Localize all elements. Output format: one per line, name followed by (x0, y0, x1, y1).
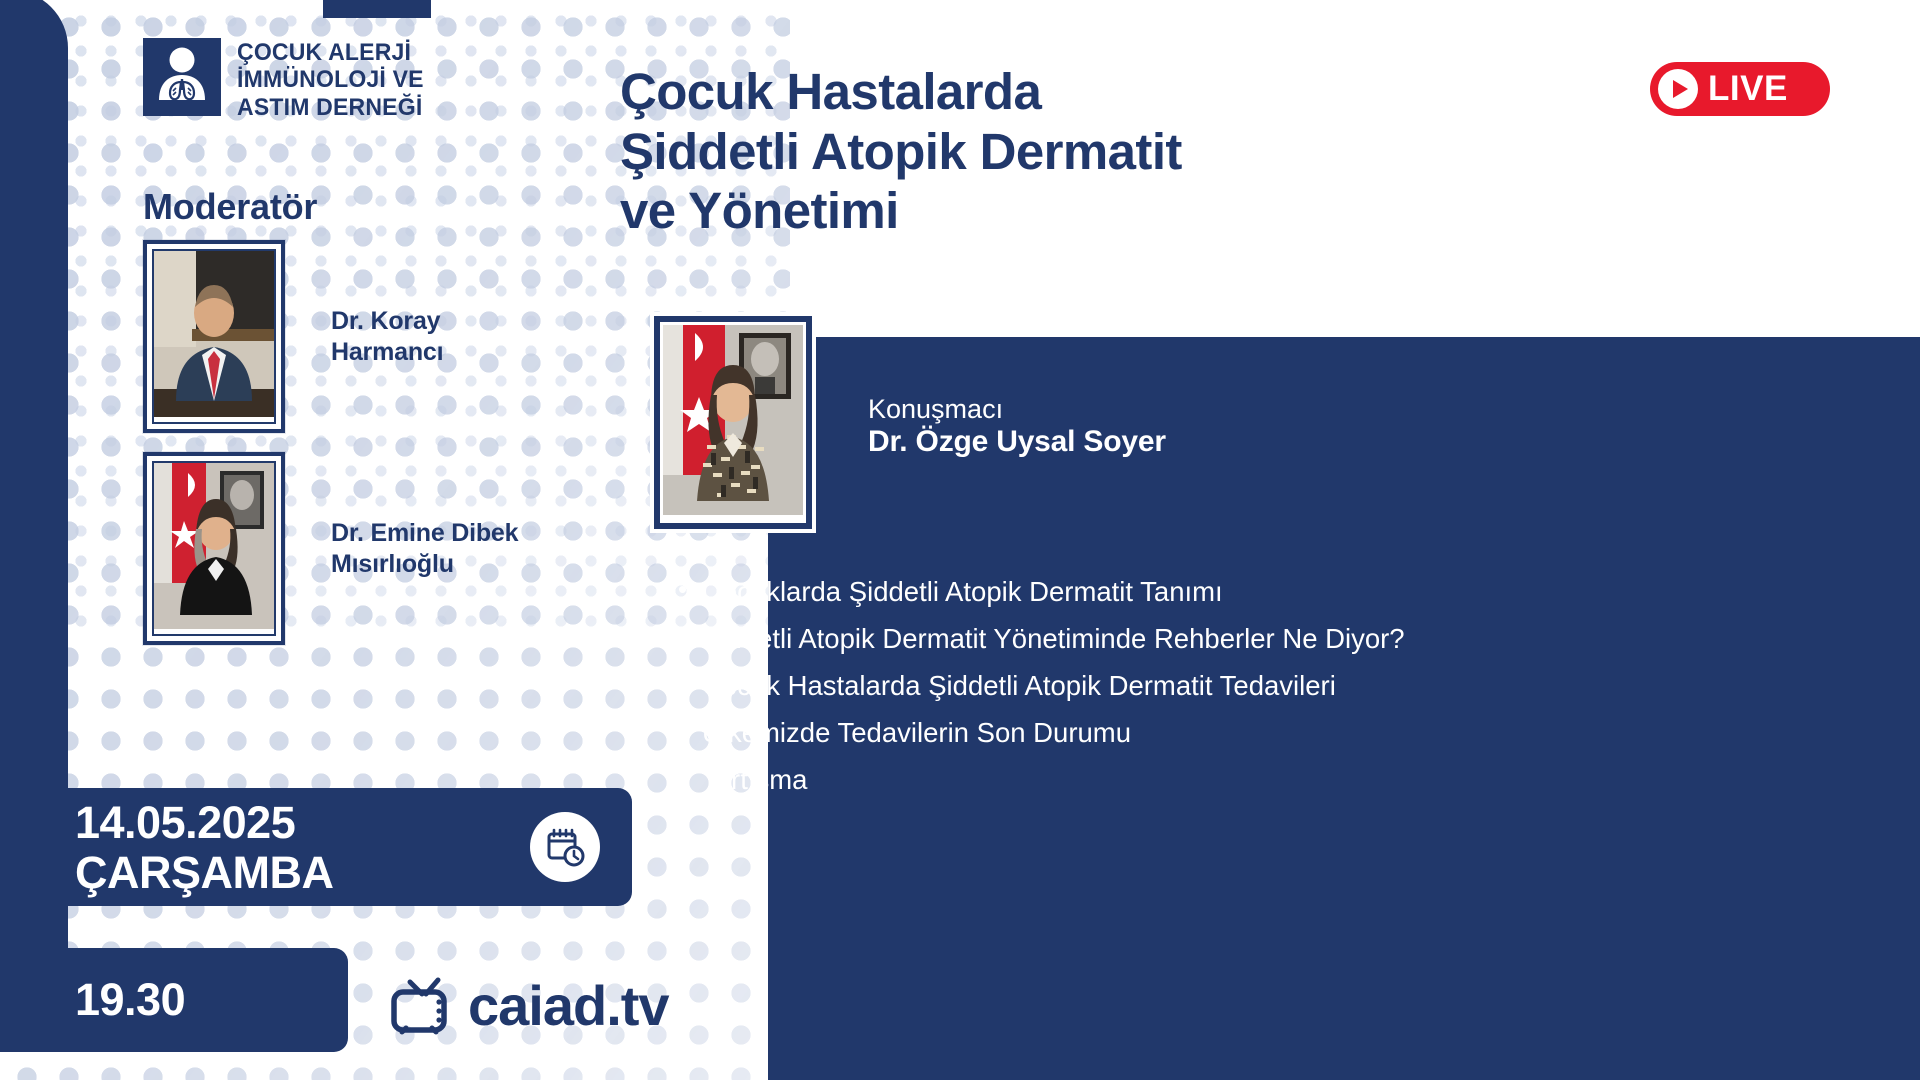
event-date-text: 14.05.2025 ÇARŞAMBA (75, 800, 334, 895)
event-time: 19.30 (75, 974, 185, 1026)
channel-link[interactable]: caiad.tv (386, 966, 669, 1045)
moderator-1-name-line-1: Dr. Koray (331, 307, 440, 335)
portrait-emine-dibek-misirlioglu (152, 461, 276, 636)
logo-line-2: İMMÜNOLOJİ VE (237, 66, 424, 93)
channel-url: caiad.tv (468, 973, 669, 1038)
event-time-badge: 19.30 (0, 948, 348, 1052)
top-accent-notch (323, 0, 431, 18)
list-item: Ülkemizde Tedavilerin Son Durumu (672, 713, 1552, 753)
page-title: Çocuk Hastalarda Şiddetli Atopik Dermati… (620, 62, 1182, 241)
logo-line-3: ASTIM DERNEĞİ (237, 94, 424, 121)
event-date: 14.05.2025 (75, 797, 295, 848)
list-item: Tartışma (672, 760, 1552, 800)
live-badge-label: LIVE (1708, 69, 1788, 109)
portrait-koray-harmanci (152, 249, 276, 424)
moderator-1-name-line-2: Harmancı (331, 338, 443, 366)
list-item: Çocuklarda Şiddetli Atopik Dermatit Tanı… (672, 572, 1552, 612)
live-badge[interactable]: LIVE (1650, 62, 1830, 116)
event-day: ÇARŞAMBA (75, 850, 334, 895)
calendar-clock-icon (530, 812, 600, 882)
event-date-badge: 14.05.2025 ÇARŞAMBA (0, 788, 632, 906)
moderator-2-photo-frame (143, 452, 285, 645)
title-line-2: Şiddetli Atopik Dermatit (620, 122, 1182, 182)
webinar-poster: ÇOCUK ALERJİ İMMÜNOLOJİ VE ASTIM DERNEĞİ… (0, 0, 1920, 1080)
title-line-3: ve Yönetimi (620, 181, 1182, 241)
moderator-2-name-line-2: Mısırlıoğlu (331, 550, 454, 578)
list-item: Şiddetli Atopik Dermatit Yönetiminde Reh… (672, 619, 1552, 659)
portrait-ozge-uysal-soyer (663, 502, 803, 519)
moderator-1-name: Dr. Koray Harmancı (331, 306, 443, 368)
association-logo-text: ÇOCUK ALERJİ İMMÜNOLOJİ VE ASTIM DERNEĞİ (237, 38, 424, 121)
speaker-photo-frame (650, 312, 816, 533)
moderator-heading: Moderatör (143, 186, 317, 228)
tv-icon (386, 966, 460, 1045)
play-icon (1658, 69, 1698, 109)
logo-line-1: ÇOCUK ALERJİ (237, 39, 424, 66)
speaker-name: Dr. Özge Uysal Soyer (868, 425, 1166, 459)
moderator-2-name: Dr. Emine Dibek Mısırlıoğlu (331, 518, 518, 580)
association-logo: ÇOCUK ALERJİ İMMÜNOLOJİ VE ASTIM DERNEĞİ (143, 38, 436, 121)
moderator-1-photo-frame (143, 240, 285, 433)
moderator-1: Dr. Koray Harmancı (143, 240, 443, 433)
moderator-2-name-line-1: Dr. Emine Dibek (331, 519, 518, 547)
title-line-1: Çocuk Hastalarda (620, 62, 1182, 122)
list-item: Çocuk Hastalarda Şiddetli Atopik Dermati… (672, 666, 1552, 706)
moderator-2: Dr. Emine Dibek Mısırlıoğlu (143, 452, 518, 645)
speaker-role: Konuşmacı (868, 392, 1003, 427)
topic-list: Çocuklarda Şiddetli Atopik Dermatit Tanı… (672, 572, 1552, 806)
child-lungs-icon (143, 38, 221, 116)
